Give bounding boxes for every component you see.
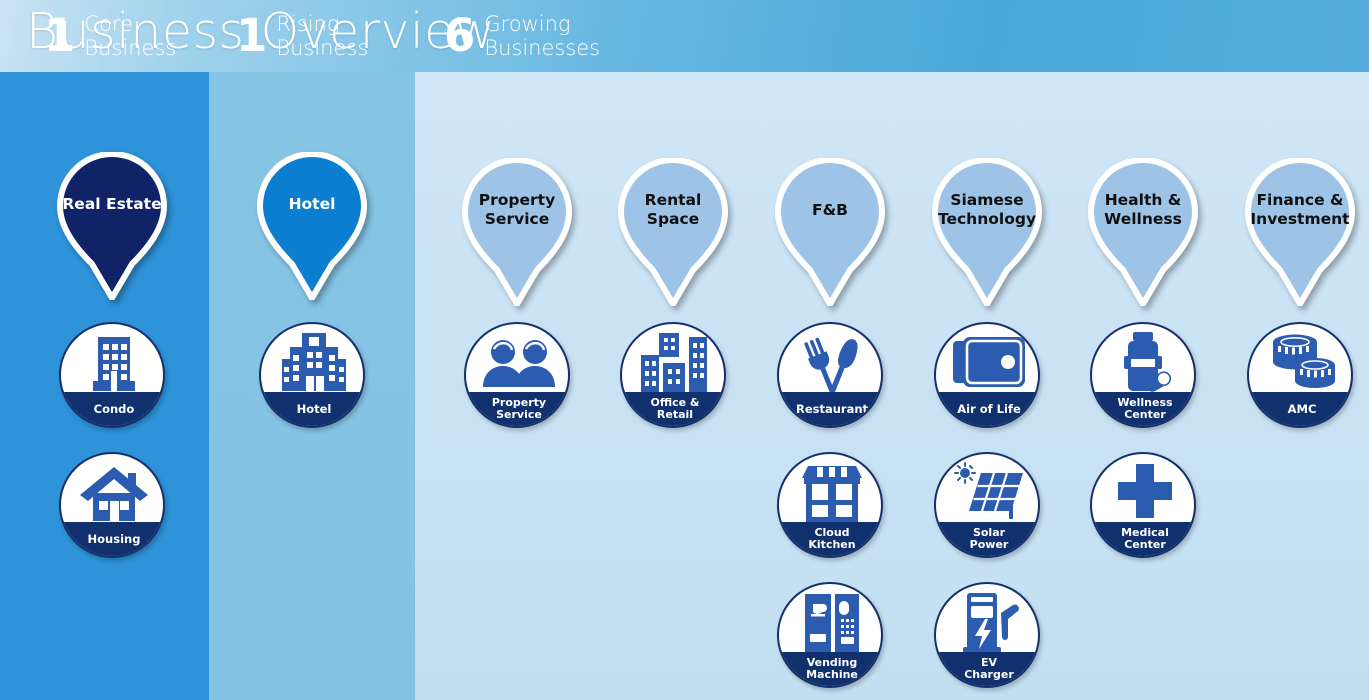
two-people-icon [466, 328, 570, 396]
business-icon-label: WellnessCenter [1092, 392, 1196, 426]
vending-machine-icon [779, 588, 883, 656]
ev-charger-icon [936, 588, 1040, 656]
column-heading-growing: 6 Growing Businesses [444, 12, 600, 60]
business-pin-label: SiameseTechnology [925, 158, 1049, 262]
slide-header: Business Overview [0, 0, 1369, 72]
column-label-line1: Growing [484, 12, 600, 36]
business-icon-circle[interactable]: Air of Life [934, 322, 1040, 428]
column-label: Core Business [84, 12, 176, 60]
business-pin[interactable]: RentalSpace [611, 158, 735, 306]
column-label-line1: Core [84, 12, 176, 36]
business-icon-label: EVCharger [936, 652, 1040, 686]
solar-panel-icon [936, 458, 1040, 526]
city-buildings-icon [622, 328, 726, 396]
business-icon-circle[interactable]: WellnessCenter [1090, 322, 1196, 428]
business-icon-label: Office &Retail [622, 392, 726, 426]
business-icon-label: Air of Life [936, 392, 1040, 426]
business-icon-circle[interactable]: Housing [59, 452, 165, 558]
air-purifier-icon [936, 328, 1040, 396]
business-icon-circle[interactable]: VendingMachine [777, 582, 883, 688]
business-icon-label: Hotel [261, 392, 365, 426]
business-icon-circle[interactable]: SolarPower [934, 452, 1040, 558]
business-icon-circle[interactable]: CloudKitchen [777, 452, 883, 558]
column-label-line1: Rising [276, 12, 368, 36]
column-label: Rising Business [276, 12, 368, 60]
business-icon-label: Restaurant [779, 392, 883, 426]
business-icon-circle[interactable]: MedicalCenter [1090, 452, 1196, 558]
business-pin-label: RentalSpace [611, 158, 735, 262]
business-pin-label: Finance &Investment [1238, 158, 1362, 262]
slide-canvas: Business Overview 1 Core Business 1 Risi… [0, 0, 1369, 700]
business-pin-label: Real Estate [50, 152, 174, 256]
column-number: 1 [44, 13, 75, 59]
house-icon [61, 458, 165, 526]
column-heading-core: 1 Core Business [44, 12, 176, 60]
business-icon-circle[interactable]: Office &Retail [620, 322, 726, 428]
column-label-line2: Business [276, 36, 368, 60]
business-pin-label: PropertyService [455, 158, 579, 262]
business-pin-label: Health &Wellness [1081, 158, 1205, 262]
business-icon-label: VendingMachine [779, 652, 883, 686]
medical-cross-icon [1092, 458, 1196, 526]
business-icon-label: Condo [61, 392, 165, 426]
business-icon-label: MedicalCenter [1092, 522, 1196, 556]
business-pin[interactable]: SiameseTechnology [925, 158, 1049, 306]
business-icon-label: CloudKitchen [779, 522, 883, 556]
fork-knife-icon [779, 328, 883, 396]
business-pin-label: F&B [768, 158, 892, 262]
business-icon-label: SolarPower [936, 522, 1040, 556]
business-pin[interactable]: F&B [768, 158, 892, 306]
business-pin-label: Hotel [250, 152, 374, 256]
column-label-line2: Businesses [484, 36, 600, 60]
storefront-icon [779, 458, 883, 526]
business-icon-circle[interactable]: Condo [59, 322, 165, 428]
business-icon-label: PropertyService [466, 392, 570, 426]
business-pin[interactable]: Hotel [250, 152, 374, 300]
business-pin[interactable]: Health &Wellness [1081, 158, 1205, 306]
business-icon-circle[interactable]: Restaurant [777, 322, 883, 428]
column-number: 6 [444, 13, 475, 59]
business-icon-label: Housing [61, 522, 165, 556]
column-number: 1 [236, 13, 267, 59]
column-label: Growing Businesses [484, 12, 600, 60]
business-icon-label: AMC [1249, 392, 1353, 426]
coins-stack-icon [1249, 328, 1353, 396]
business-icon-circle[interactable]: PropertyService [464, 322, 570, 428]
business-icon-circle[interactable]: AMC [1247, 322, 1353, 428]
business-icon-circle[interactable]: Hotel [259, 322, 365, 428]
medicine-bottle-icon [1092, 328, 1196, 396]
hotel-building-icon [261, 328, 365, 396]
business-pin[interactable]: PropertyService [455, 158, 579, 306]
business-pin[interactable]: Finance &Investment [1238, 158, 1362, 306]
business-icon-circle[interactable]: EVCharger [934, 582, 1040, 688]
column-heading-rising: 1 Rising Business [236, 12, 368, 60]
business-pin[interactable]: Real Estate [50, 152, 174, 300]
column-label-line2: Business [84, 36, 176, 60]
condo-building-icon [61, 328, 165, 396]
